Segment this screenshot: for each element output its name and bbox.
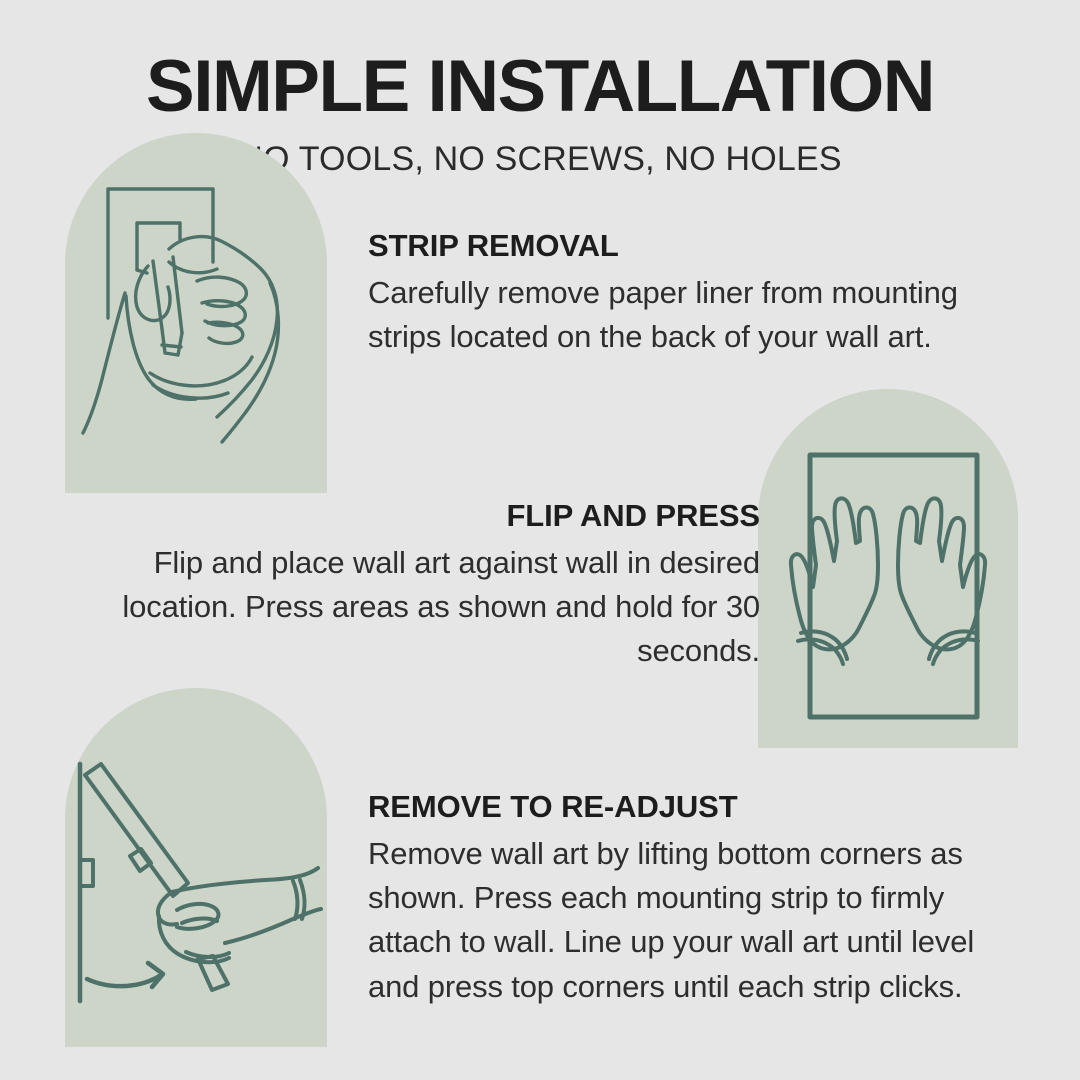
step-title-flip-and-press: FLIP AND PRESS — [100, 498, 760, 535]
step-body-remove-to-readjust: Remove wall art by lifting bottom corner… — [368, 826, 1008, 1009]
step-strip-removal: STRIP REMOVAL Carefully remove paper lin… — [368, 228, 1000, 359]
infographic-page: SIMPLE INSTALLATION NO TOOLS, NO SCREWS,… — [0, 0, 1080, 1080]
arch-background-shape — [65, 133, 327, 493]
arch-background-shape — [65, 688, 327, 1047]
step-body-flip-and-press: Flip and place wall art against wall in … — [100, 535, 760, 674]
step-remove-to-readjust: REMOVE TO RE-ADJUST Remove wall art by l… — [368, 789, 1008, 1009]
illustration-panel-strip-removal — [65, 133, 327, 493]
page-title: SIMPLE INSTALLATION — [0, 0, 1080, 123]
step-body-strip-removal: Carefully remove paper liner from mounti… — [368, 265, 1000, 360]
step-title-strip-removal: STRIP REMOVAL — [368, 228, 1000, 265]
illustration-panel-remove-to-readjust — [65, 688, 327, 1047]
illustration-panel-flip-and-press — [758, 389, 1018, 748]
step-title-remove-to-readjust: REMOVE TO RE-ADJUST — [368, 789, 1008, 826]
step-flip-and-press: FLIP AND PRESS Flip and place wall art a… — [100, 498, 760, 674]
